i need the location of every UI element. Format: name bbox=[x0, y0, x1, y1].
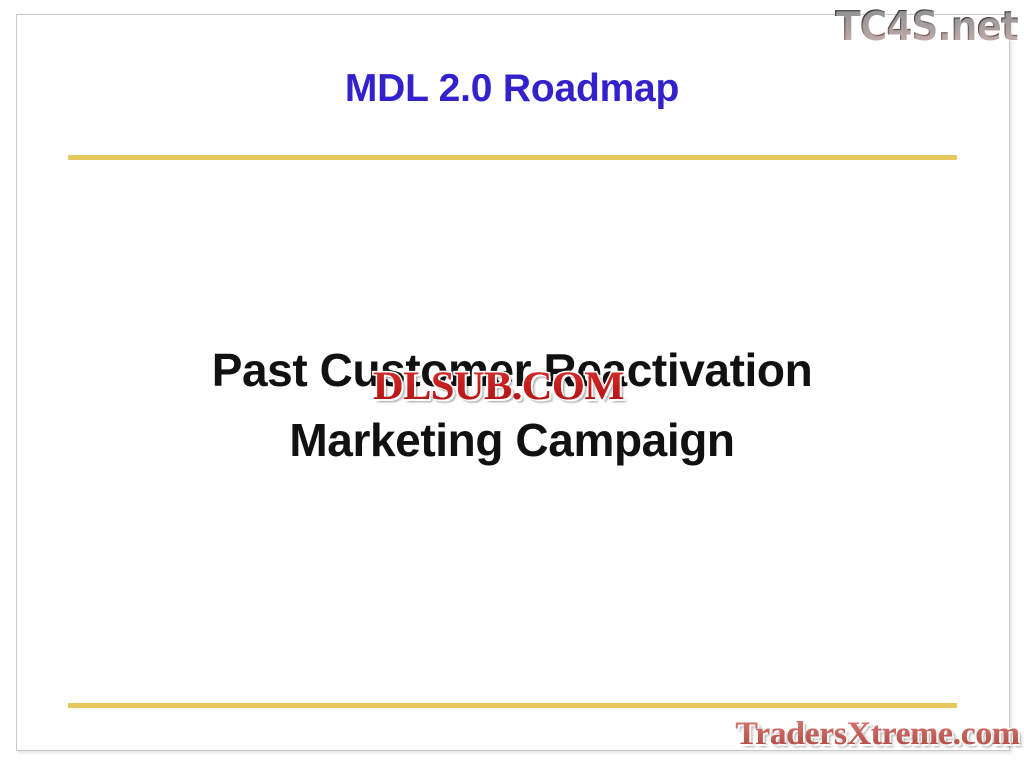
body-heading-line-2: Marketing Campaign bbox=[0, 406, 1024, 476]
slide-page: { "slide": { "title": "MDL 2.0 Roadmap",… bbox=[0, 0, 1024, 768]
divider-rule-top bbox=[68, 155, 957, 160]
watermark-dlsub-fill: DLSUB.COM bbox=[373, 362, 624, 409]
logo-tradersxtreme: TradersXtreme.comTradersXtreme.com bbox=[736, 716, 1020, 753]
divider-rule-bottom bbox=[68, 703, 957, 708]
logo-tradersxtreme-fill: TradersXtreme.com bbox=[736, 716, 1020, 753]
logo-tc4s: TC4S.net bbox=[835, 2, 1018, 50]
watermark-dlsub: DLSUB.COMDLSUB.COM bbox=[373, 362, 624, 409]
page-title: MDL 2.0 Roadmap bbox=[0, 68, 1024, 111]
